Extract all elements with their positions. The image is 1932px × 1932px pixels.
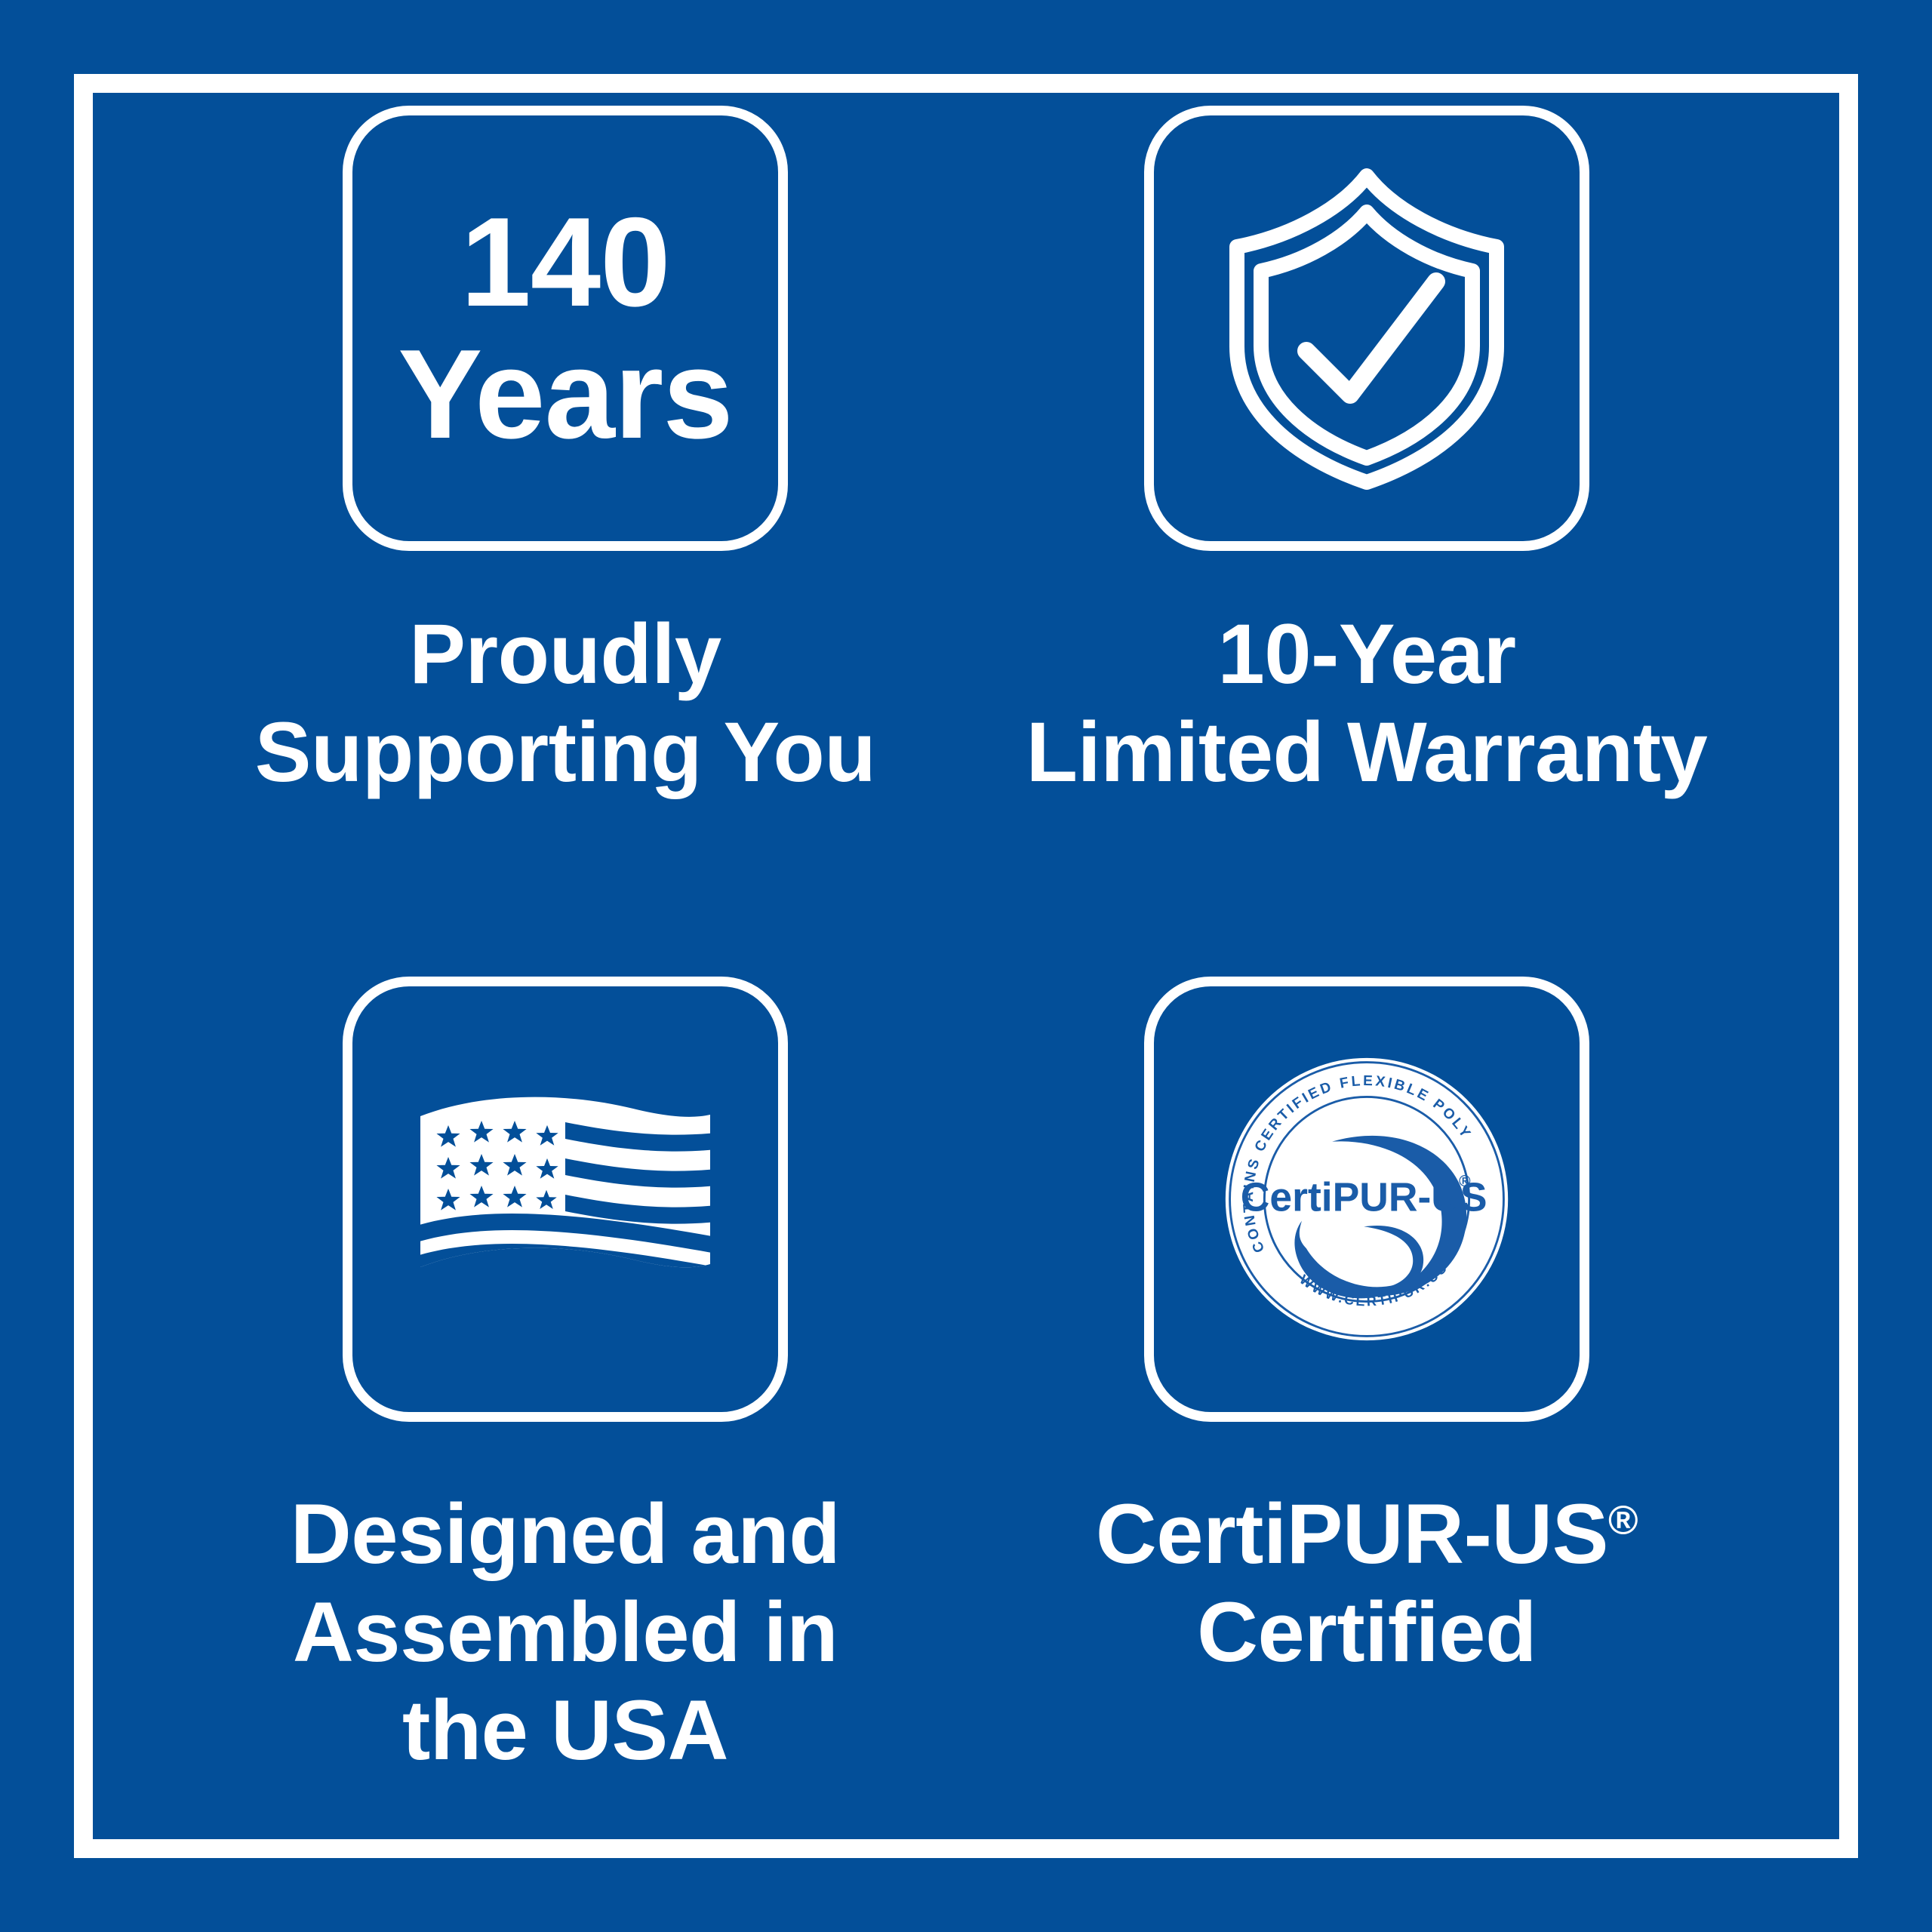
certipur-registered-mark: ® bbox=[1459, 1173, 1471, 1190]
badge-grid: 140 Years Proudly Supporting You 10-Year… bbox=[74, 74, 1858, 1858]
certipur-caption-certified: Certified bbox=[1197, 1585, 1537, 1679]
certipur-us-seal-icon: CertiPUR-US ® CONTAINS CERTIFIED FLEXIBL… bbox=[1223, 1055, 1511, 1343]
promo-badge-panel: 140 Years Proudly Supporting You 10-Year… bbox=[0, 0, 1932, 1932]
certipur-caption-registered: ® bbox=[1608, 1498, 1638, 1543]
badge-warranty-caption: 10-Year Limited Warranty bbox=[1026, 605, 1708, 801]
certipur-wordmark: CertiPUR-US bbox=[1241, 1175, 1487, 1220]
certipur-icon-frame: CertiPUR-US ® CONTAINS CERTIFIED FLEXIBL… bbox=[1144, 977, 1589, 1422]
badge-years: 140 Years Proudly Supporting You bbox=[165, 106, 966, 955]
badge-usa: Designed and Assembled in the USA bbox=[165, 955, 966, 1805]
years-icon-frame: 140 Years bbox=[343, 106, 788, 551]
years-number-icon: 140 Years bbox=[398, 196, 732, 460]
badge-usa-caption: Designed and Assembled in the USA bbox=[291, 1485, 840, 1780]
shield-check-icon bbox=[1201, 162, 1533, 494]
years-unit-label: Years bbox=[398, 328, 732, 460]
certipur-caption-brand: CertiPUR-US bbox=[1096, 1487, 1608, 1581]
years-count-value: 140 bbox=[398, 196, 732, 328]
warranty-icon-frame bbox=[1144, 106, 1589, 551]
usa-icon-frame bbox=[343, 977, 788, 1422]
badge-warranty: 10-Year Limited Warranty bbox=[966, 106, 1767, 955]
badge-certipur: CertiPUR-US ® CONTAINS CERTIFIED FLEXIBL… bbox=[966, 955, 1767, 1805]
usa-flag-icon bbox=[414, 1086, 716, 1312]
badge-certipur-caption: CertiPUR-US®Certified bbox=[1096, 1485, 1638, 1681]
badge-years-caption: Proudly Supporting You bbox=[255, 605, 876, 801]
